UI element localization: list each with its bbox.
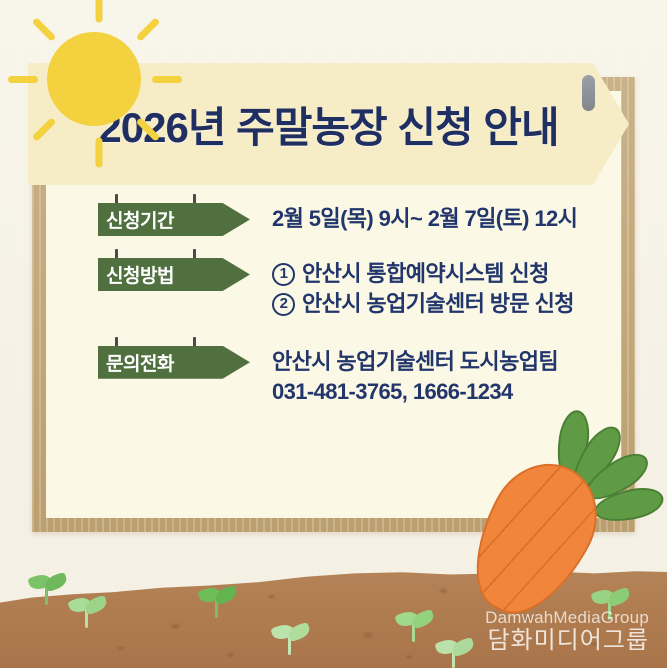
phone-numbers: 031-481-3765, 1666-1234 [272,377,513,407]
row-line: 2월 5일(목) 9시~ 2월 7일(토) 12시 [272,204,621,234]
row-line-phone: 031-481-3765, 1666-1234 [272,377,621,407]
info-row-period: 신청기간 2월 5일(목) 9시~ 2월 7일(토) 12시 [46,203,621,236]
list-number-1: 1 [272,263,295,286]
row-line-text: 안산시 통합예약시스템 신청 [302,259,549,289]
carrot-icon [470,418,667,628]
tag-label: 신청기간 [106,206,174,233]
label-tag-period: 신청기간 [98,203,250,236]
tag-label: 신청방법 [106,261,174,288]
sun-disc [47,32,141,126]
sun-icon [12,4,187,174]
sprout-icon [85,598,87,628]
sun-ray [96,0,103,23]
sprout-icon [288,625,290,655]
sun-ray [32,117,57,142]
row-line-text: 2월 5일(목) 9시~ 2월 7일(토) 12시 [272,204,577,234]
row-line-text: 안산시 농업기술센터 방문 신청 [302,289,574,319]
row-body: 안산시 농업기술센터 도시농업팀 031-481-3765, 1666-1234 [250,346,621,408]
info-row-contact: 문의전화 안산시 농업기술센터 도시농업팀 031-481-3765, 1666… [46,346,621,408]
tag-label: 문의전화 [106,349,174,376]
info-rows: 신청기간 2월 5일(목) 9시~ 2월 7일(토) 12시 [46,203,621,429]
sun-ray [152,76,182,83]
tag-wrapper: 문의전화 [98,346,250,379]
row-line-text: 안산시 농업기술센터 도시농업팀 [272,347,558,377]
list-number-2: 2 [272,293,295,316]
sun-ray [136,17,161,42]
tag-wrapper: 신청방법 [98,258,250,291]
pin-icon [582,75,595,111]
sun-ray [32,17,57,42]
row-body: 1 안산시 통합예약시스템 신청 2 안산시 농업기술센터 방문 신청 [250,258,621,320]
sun-ray [136,117,161,142]
row-body: 2월 5일(목) 9시~ 2월 7일(토) 12시 [250,203,621,234]
sprout-icon [412,612,414,642]
tag-wrapper: 신청기간 [98,203,250,236]
poster-canvas: 2026년 주말농장 신청 안내 신청기간 2월 5 [0,0,667,668]
sun-ray [96,138,103,168]
row-line: 2 안산시 농업기술센터 방문 신청 [272,289,621,319]
label-tag-contact: 문의전화 [98,346,250,379]
sprout-icon [215,588,217,618]
row-line: 안산시 농업기술센터 도시농업팀 [272,347,621,377]
row-line: 1 안산시 통합예약시스템 신청 [272,259,621,289]
sprout-icon [45,575,47,605]
label-tag-method: 신청방법 [98,258,250,291]
sun-ray [8,76,38,83]
sprout-icon [452,640,454,668]
info-row-method: 신청방법 1 안산시 통합예약시스템 신청 2 안산시 농업기술센터 방문 신청 [46,258,621,320]
